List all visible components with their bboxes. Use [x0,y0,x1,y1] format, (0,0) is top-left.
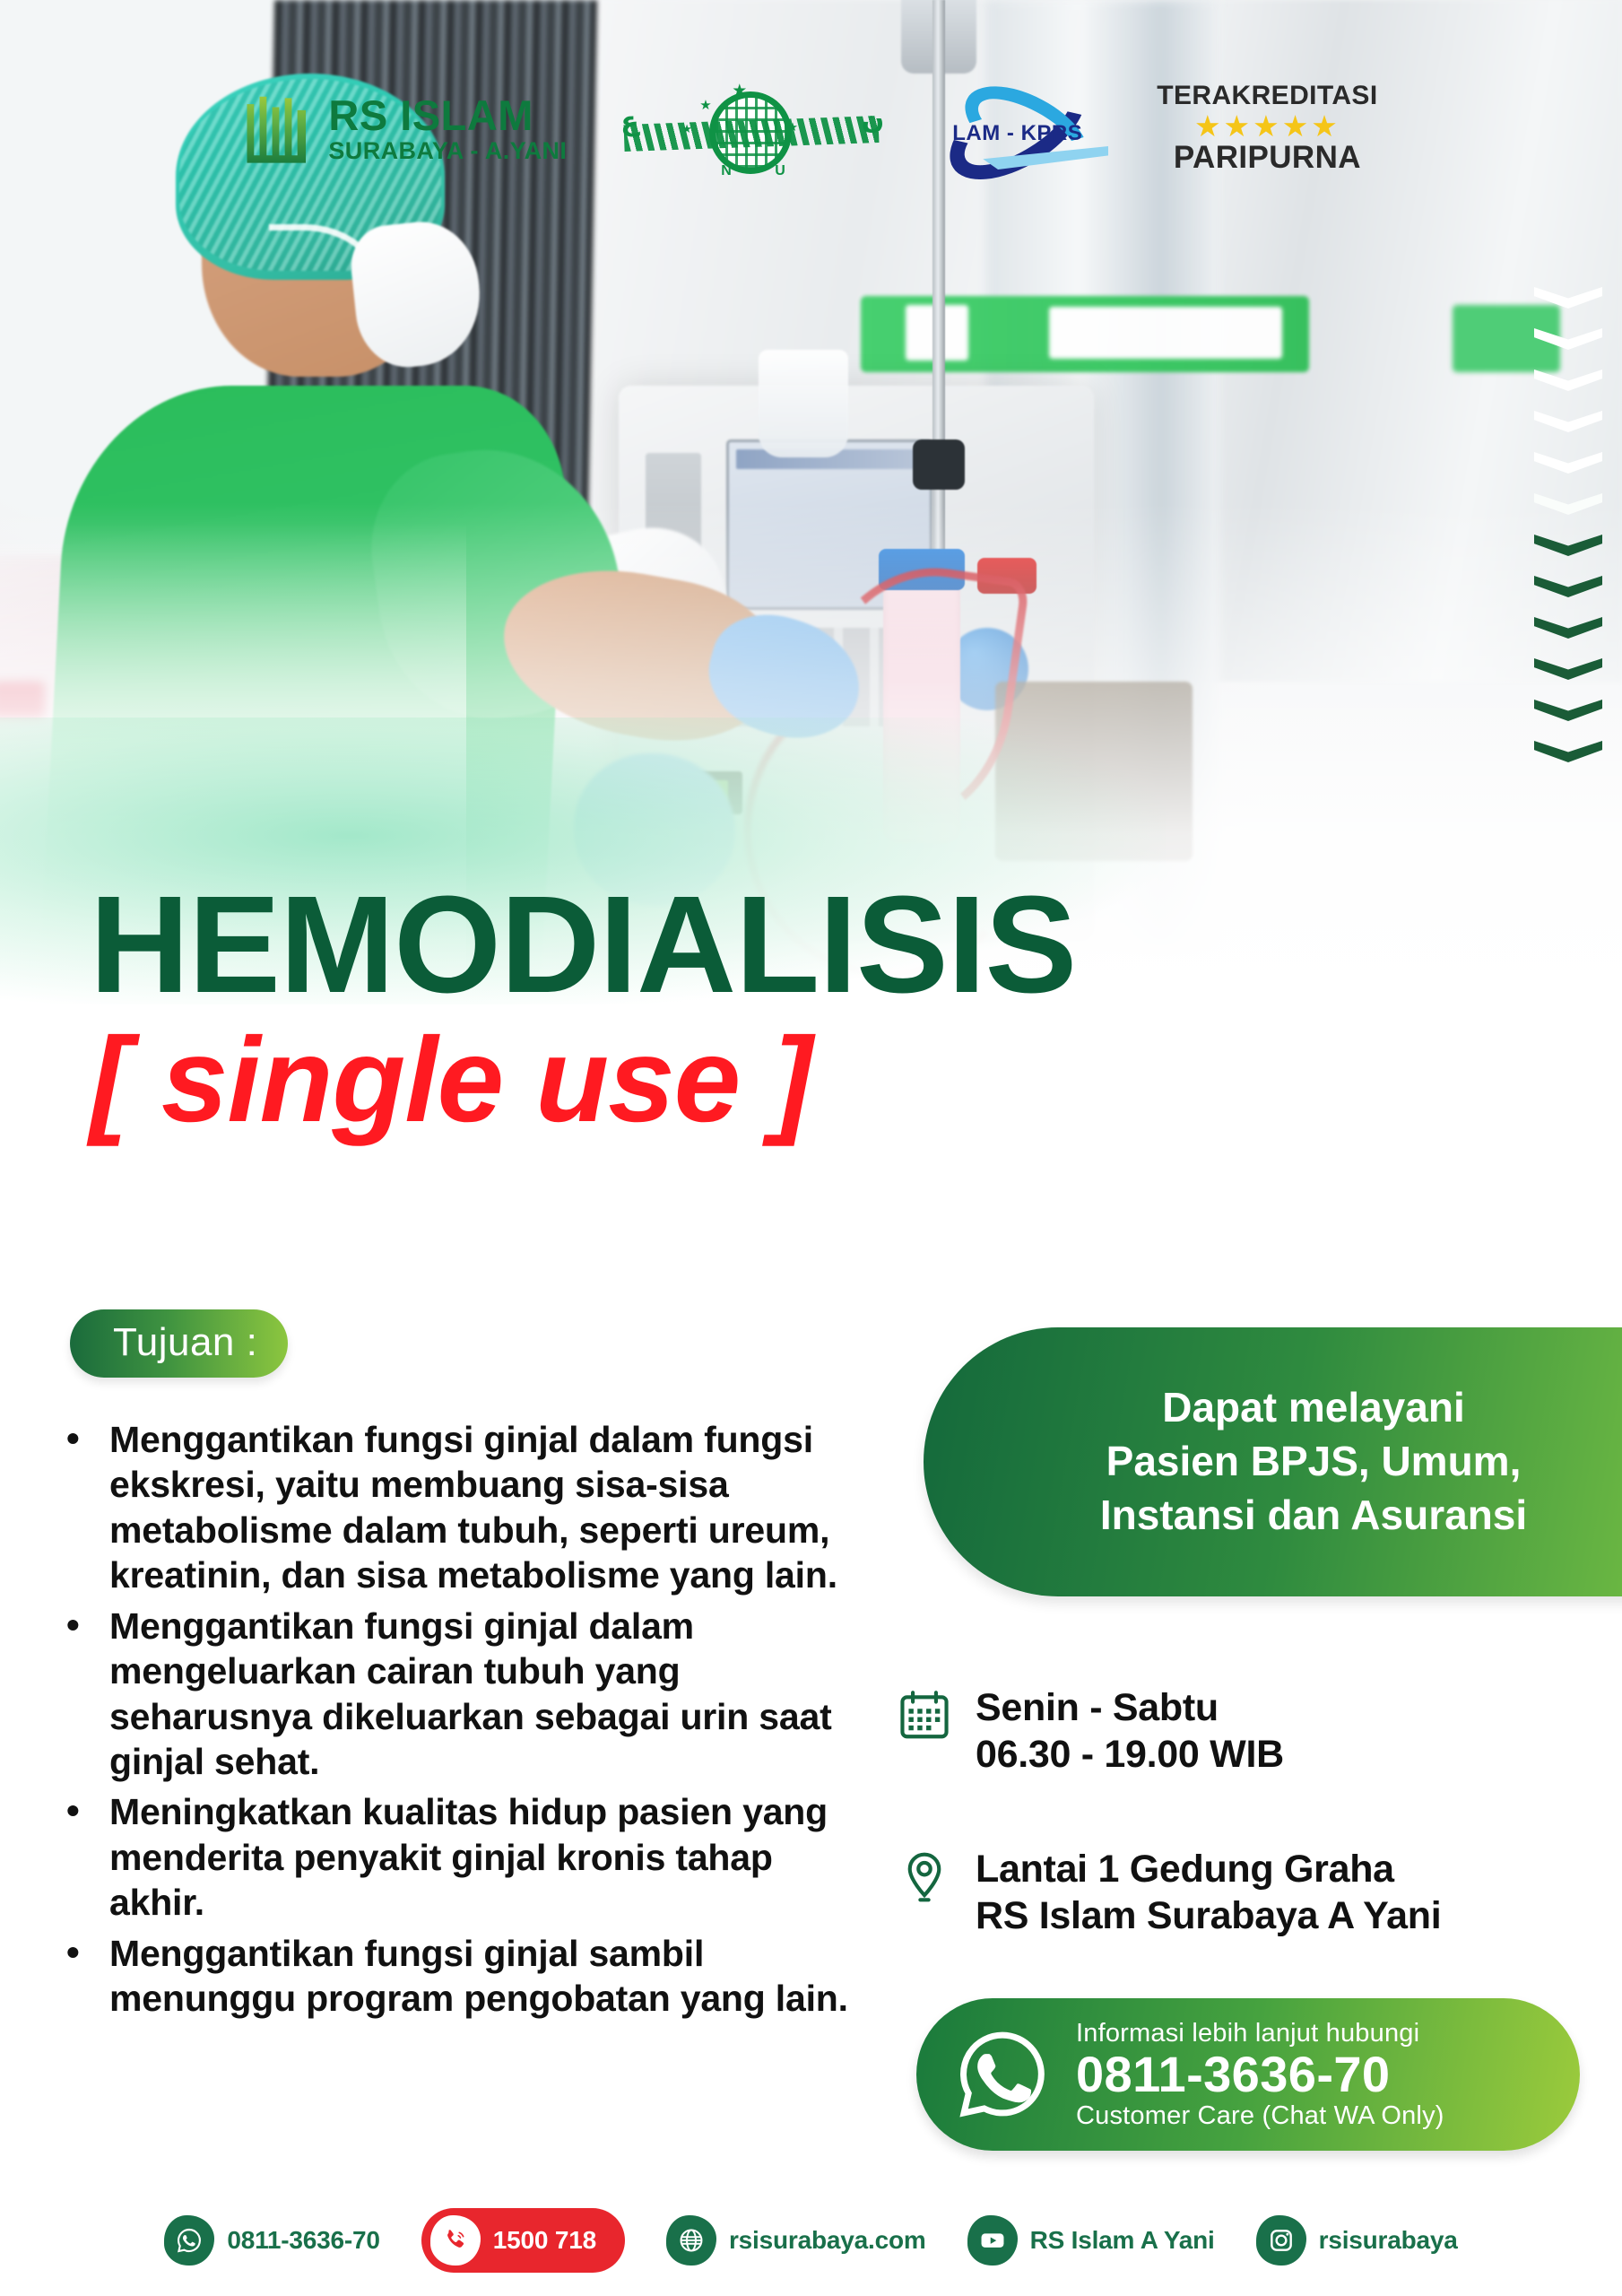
purpose-badge: Tujuan : [70,1309,288,1378]
schedule-row: Senin - Sabtu 06.30 - 19.00 WIB [897,1684,1284,1779]
whatsapp-icon [952,2024,1053,2125]
footer-item-website[interactable]: rsisurabaya.com [666,2215,926,2266]
hospital-name-main: RS ISLAM [328,94,567,136]
photo-green-display [861,296,1309,372]
location-line-1: Lantai 1 Gedung Graha [976,1846,1441,1892]
footer-label: rsisurabaya.com [729,2226,926,2255]
title-subtitle: [ single use ] [90,1021,1076,1141]
poster-title: HEMODIALISIS [ single use ] [90,879,1076,1141]
services-line-3: Instansi dan Asuransi [1100,1489,1527,1543]
instagram-icon [1256,2215,1306,2266]
services-line-2: Pasien BPJS, Umum, [1106,1435,1522,1489]
accreditation-stars: ★★★★★ [1157,111,1377,142]
footer-item-instagram[interactable]: rsisurabaya [1256,2215,1458,2266]
purpose-list: Menggantikan fungsi ginjal dalam fungsi … [54,1417,861,2026]
footer-item-phone[interactable]: 1500 718 [421,2208,625,2273]
whatsapp-number: 0811-3636-70 [1076,2048,1444,2100]
schedule-hours: 06.30 - 19.00 WIB [976,1731,1284,1778]
chevron-decoration [1534,287,1602,782]
location-line-2: RS Islam Surabaya A Yani [976,1892,1441,1939]
footer-item-whatsapp[interactable]: 0811-3636-70 [164,2215,379,2266]
footer-label: RS Islam A Yani [1030,2226,1215,2255]
accreditation-top-label: TERAKREDITASI [1157,83,1377,110]
whatsapp-icon [164,2215,214,2266]
lam-kprs-swoosh-logo-icon: LAM - KPRS [936,82,1106,175]
location-row: Lantai 1 Gedung Graha RS Islam Surabaya … [897,1846,1441,1940]
list-item: Menggantikan fungsi ginjal sambil menung… [54,1931,861,2022]
accreditation-bottom-label: PARIPURNA [1157,142,1377,174]
footer-label: 0811-3636-70 [227,2226,379,2255]
globe-icon [666,2215,716,2266]
purpose-badge-label: Tujuan : [113,1320,257,1364]
calendar-icon [897,1688,952,1744]
phone-icon [430,2215,481,2266]
hospital-name-sub: SURABAYA - A.YANI [328,139,567,163]
list-item: Menggantikan fungsi ginjal dalam fungsi … [54,1417,861,1598]
nu-label-n: N [721,163,732,179]
whatsapp-heading: Informasi lebih lanjut hubungi [1076,2020,1444,2047]
schedule-days: Senin - Sabtu [976,1684,1284,1731]
title-main: HEMODIALISIS [90,879,1076,1012]
map-pin-icon [897,1849,952,1905]
footer-label: 1500 718 [493,2226,596,2255]
whatsapp-cta[interactable]: Informasi lebih lanjut hubungi 0811-3636… [916,1998,1580,2151]
lam-kprs-label: LAM - KPRS [952,121,1082,146]
hospital-logo: RS ISLAM SURABAYA - A.YANI [244,91,567,166]
iv-pole-clamp [913,439,965,490]
list-item: Meningkatkan kualitas hidup pasien yang … [54,1789,861,1925]
iv-bag [759,350,848,457]
youtube-icon [967,2215,1018,2266]
kufi-calligraphy-logo-icon [244,91,314,166]
footer-item-youtube[interactable]: RS Islam A Yani [967,2215,1215,2266]
poster-root: RS ISLAM SURABAYA - A.YANI ع ★ ★ ★ ★ ★ ن… [0,0,1622,2296]
list-item: Menggantikan fungsi ginjal dalam mengelu… [54,1604,861,1785]
services-box: Dapat melayani Pasien BPJS, Umum, Instan… [924,1327,1622,1596]
header-logo-bar: RS ISLAM SURABAYA - A.YANI ع ★ ★ ★ ★ ★ ن… [0,79,1622,178]
accreditation-badge: TERAKREDITASI ★★★★★ PARIPURNA [1157,83,1377,174]
footer-contact-bar: 0811-3636-70 1500 718 rsisurabaya.com [0,2202,1622,2279]
footer-label: rsisurabaya [1319,2226,1458,2255]
whatsapp-note: Customer Care (Chat WA Only) [1076,2102,1444,2129]
nahdlatul-ulama-globe-logo-icon: ع ★ ★ ★ ★ ★ ن N U [617,79,886,178]
nu-label-u: U [775,163,785,179]
services-line-1: Dapat melayani [1162,1381,1464,1435]
